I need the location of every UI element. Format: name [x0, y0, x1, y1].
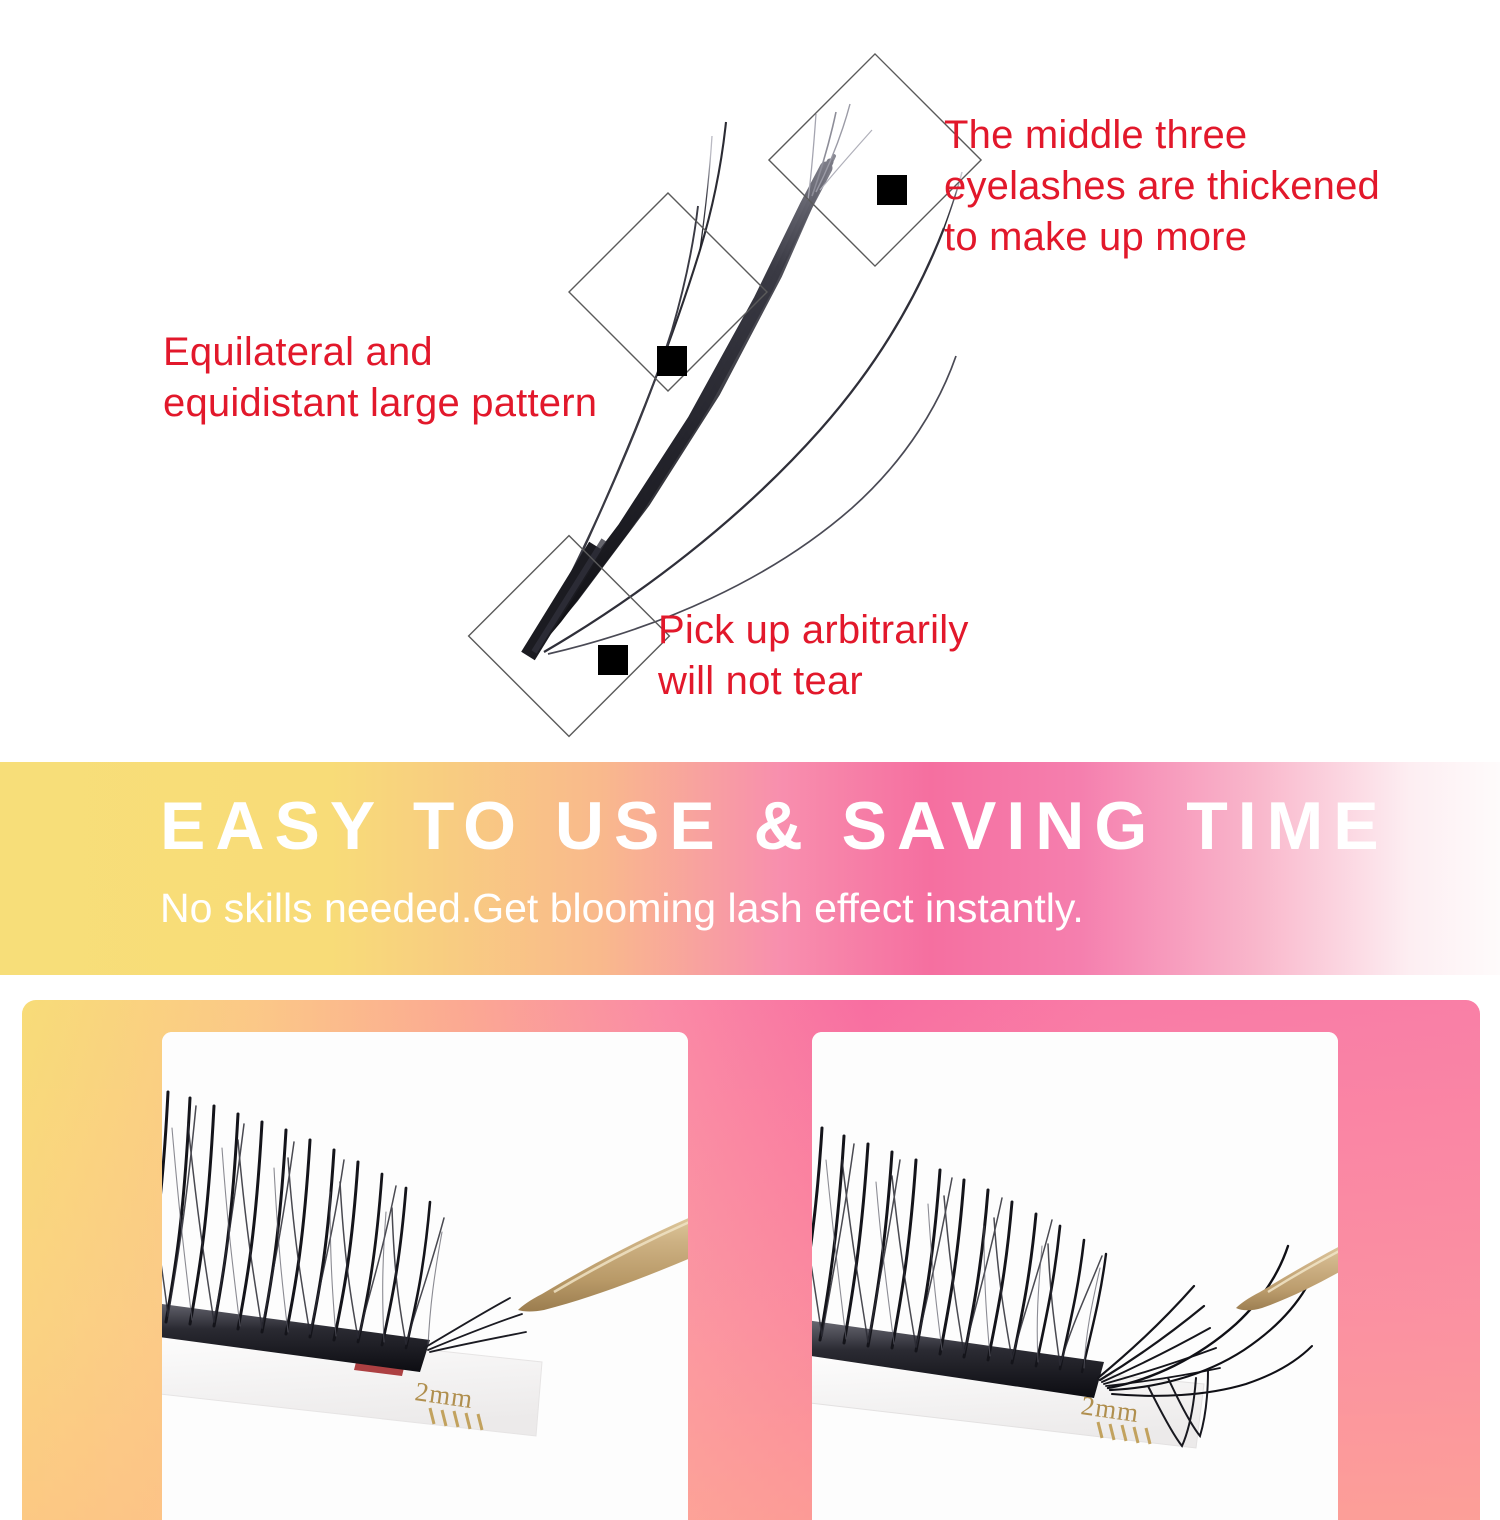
callout-marker-square-middle-left: [657, 346, 687, 376]
annotation-equilateral-equidistant: Equilateral and equidistant large patter…: [163, 327, 643, 429]
photo-card-lash-tray-with-tweezers: 2mm: [162, 1032, 688, 1520]
lash-diagram-section: The middle three eyelashes are thickened…: [0, 0, 1500, 762]
callout-marker-square-bottom: [598, 645, 628, 675]
photo-lash-fan-pickup: 2mm: [812, 1032, 1338, 1520]
lash-fiber-right-sweep: [544, 228, 944, 652]
lash-base-strip: [528, 546, 596, 656]
photo-card-lash-fan-pickup: 2mm: [812, 1032, 1338, 1520]
annotation-pick-up-arbitrarily: Pick up arbitrarily will not tear: [658, 605, 1078, 707]
callout-marker-square-top-right: [877, 175, 907, 205]
banner-title: EASY TO USE & SAVING TIME: [160, 792, 1389, 860]
lash-base-highlight: [534, 540, 604, 652]
banner-subtitle: No skills needed.Get blooming lash effec…: [160, 888, 1084, 929]
annotation-middle-three-thickened: The middle three eyelashes are thickened…: [944, 110, 1414, 264]
photo-lash-tray-with-tweezers: 2mm: [162, 1032, 688, 1520]
photo-panel: 2mm: [22, 1000, 1480, 1520]
headline-banner: EASY TO USE & SAVING TIME No skills need…: [0, 762, 1500, 975]
